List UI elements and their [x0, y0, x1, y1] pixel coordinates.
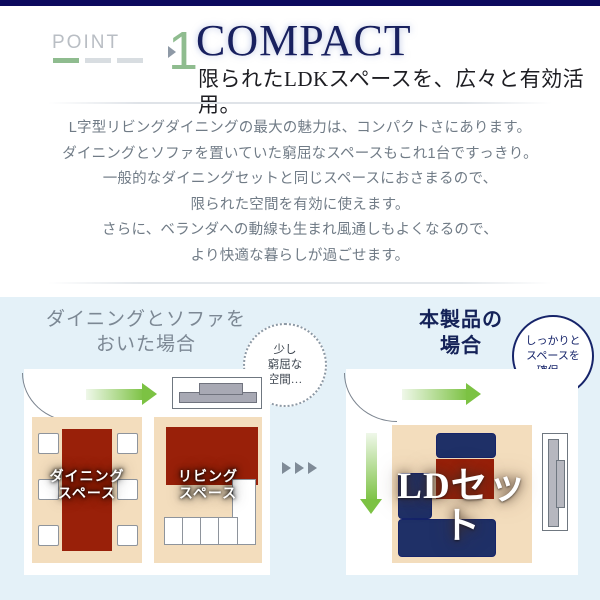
divider-bottom — [48, 282, 552, 284]
body-line: 限られた空間を有効に使えます。 — [0, 193, 600, 219]
body-line: より快適な暮らしが過ごせます。 — [0, 244, 600, 270]
room-dining: ダイニング スペース — [32, 417, 142, 563]
room-label-dining: ダイニング スペース — [32, 469, 142, 503]
tv-cabinet-icon — [172, 377, 262, 409]
dash-filled-icon — [53, 58, 79, 63]
room-label-living: リビング スペース — [154, 469, 262, 503]
flow-arrow-horizontal-icon — [86, 383, 158, 405]
door-arc-icon — [344, 373, 397, 422]
comparison-section: ダイニングとソファを おいた場合 本製品の 場合 少し 窮屈な 空間… しっかり… — [0, 297, 600, 600]
chair — [117, 433, 138, 454]
ld-bench — [436, 433, 496, 458]
room-ld: LDセット — [392, 425, 532, 563]
door-arc-icon — [22, 373, 75, 422]
body-line: L字型リビングダイニングの最大の魅力は、コンパクトさにあります。 — [0, 116, 600, 142]
divider-top — [48, 102, 552, 104]
product-feature-page: POINT 1 COMPACT 限られたLDKスペースを、広々と有効活用。 L字… — [0, 0, 600, 600]
flow-arrow-horizontal-icon — [402, 383, 486, 405]
chair — [38, 433, 59, 454]
point-dashes — [53, 58, 157, 63]
triangle-separator-icon — [168, 46, 176, 58]
room-label-ld: LDセット — [384, 467, 540, 547]
page-subtitle: 限られたLDKスペースを、広々と有効活用。 — [198, 66, 600, 118]
right-case-heading-line2: 場合 — [396, 333, 526, 359]
left-callout-text: 少し 窮屈な 空間… — [268, 343, 303, 388]
left-case-heading-line1: ダイニングとソファを — [24, 307, 268, 332]
shelf-unit-icon — [542, 433, 568, 531]
body-copy: L字型リビングダイニングの最大の魅力は、コンパクトさにあります。 ダイニングとソ… — [0, 116, 600, 269]
upper-section: POINT 1 COMPACT 限られたLDKスペースを、広々と有効活用。 L字… — [0, 6, 600, 297]
right-case-heading: 本製品の 場合 — [396, 307, 526, 359]
flow-arrow-vertical-icon — [360, 433, 382, 519]
left-case-heading-line2: おいた場合 — [24, 332, 268, 357]
dash-empty-icon — [117, 58, 143, 63]
right-case-heading-line1: 本製品の — [396, 307, 526, 333]
comparison-arrows-icon — [282, 462, 317, 474]
chair — [117, 525, 138, 546]
left-case-heading: ダイニングとソファを おいた場合 — [24, 307, 268, 357]
body-line: さらに、ベランダへの動線も生まれ風通しもよくなるので、 — [0, 218, 600, 244]
body-line: 一般的なダイニングセットと同じスペースにおさまるので、 — [0, 167, 600, 193]
point-label: POINT — [52, 32, 120, 54]
chair — [38, 525, 59, 546]
body-line: ダイニングとソファを置いていた窮屈なスペースもこれ1台ですっきり。 — [0, 142, 600, 168]
page-title: COMPACT — [196, 18, 412, 64]
dash-empty-icon — [85, 58, 111, 63]
sofa-main — [164, 517, 238, 545]
room-living: リビング スペース — [154, 417, 262, 563]
point-badge: POINT 1 — [52, 30, 172, 76]
floorplan-after: LDセット — [346, 369, 578, 575]
floorplan-before: ダイニング スペース リビング スペース — [24, 369, 270, 575]
